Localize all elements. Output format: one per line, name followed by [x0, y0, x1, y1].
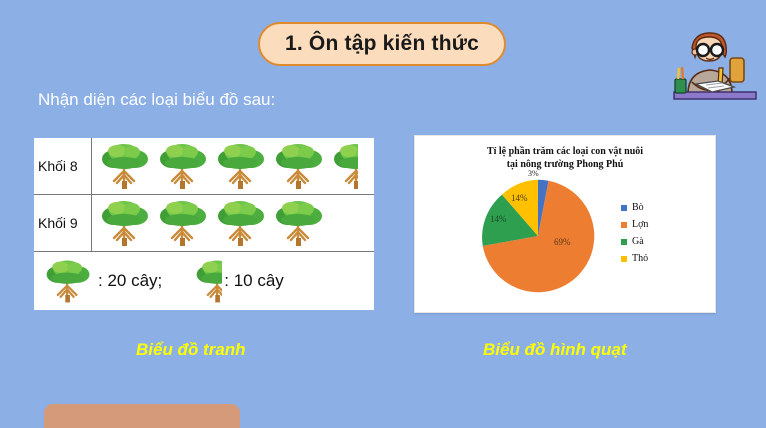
pictogram-chart: Khối 8 — [34, 138, 374, 310]
pie-chart-title-line2: tại nông trường Phong Phú — [415, 158, 715, 171]
pie-slice-label-ga: 14% — [490, 214, 507, 224]
pictogram-row-icons — [92, 138, 374, 194]
pie-chart-title-line1: Tỉ lệ phần trăm các loại con vật nuôi — [415, 145, 715, 158]
tree-icon — [155, 198, 213, 248]
tree-icon — [271, 141, 329, 191]
pie-chart-graphic — [475, 173, 601, 304]
slide-canvas: 1. Ôn tập kiến thức — [0, 0, 766, 428]
legend-swatch-lon — [621, 222, 627, 228]
legend-swatch-tho — [621, 256, 627, 262]
legend-item: Bò — [621, 199, 695, 216]
legend-item: Lợn — [621, 216, 695, 233]
legend-label-ga: Gà — [632, 236, 644, 247]
legend-swatch-ga — [621, 239, 627, 245]
table-row: Khối 8 — [34, 138, 374, 195]
legend-label-bo: Bò — [632, 202, 644, 213]
pie-chart-title: Tỉ lệ phần trăm các loại con vật nuôi tạ… — [415, 145, 715, 171]
slide-title-text: 1. Ôn tập kiến thức — [285, 32, 479, 56]
table-row: Khối 9 — [34, 195, 374, 252]
pictogram-row-label: Khối 8 — [34, 138, 92, 194]
pictogram-key-half: : 10 cây — [192, 257, 284, 305]
tree-icon — [213, 198, 271, 248]
legend-item: Thỏ — [621, 250, 695, 267]
tree-icon — [97, 198, 155, 248]
legend-label-tho: Thỏ — [632, 253, 648, 264]
pie-slice-label-lon: 69% — [554, 237, 571, 247]
pictogram-key-full-label: : 20 cây; — [98, 271, 162, 291]
slide-title-pill: 1. Ôn tập kiến thức — [258, 22, 506, 66]
pictogram-key-half-label: : 10 cây — [224, 271, 284, 291]
legend-swatch-bo — [621, 205, 627, 211]
legend-label-lon: Lợn — [632, 219, 648, 230]
tree-icon — [97, 141, 155, 191]
tree-icon — [271, 198, 329, 248]
tree-icon-half — [192, 257, 222, 305]
pictogram-key-full: : 20 cây; — [42, 257, 162, 305]
prompt-text: Nhận diện các loại biểu đồ sau: — [38, 90, 275, 110]
student-writing-icon — [672, 22, 758, 106]
pictogram-key: : 20 cây; : 10 cây — [34, 252, 374, 309]
pie-caption: Biểu đồ hình quạt — [483, 340, 627, 360]
pie-chart: Tỉ lệ phần trăm các loại con vật nuôi tạ… — [414, 135, 716, 313]
pie-chart-legend: Bò Lợn Gà Thỏ — [621, 199, 695, 267]
tree-icon-half — [329, 141, 358, 191]
legend-item: Gà — [621, 233, 695, 250]
pie-slice-label-tho: 14% — [511, 193, 528, 203]
bottom-rounded-bar[interactable] — [44, 404, 240, 428]
pictogram-caption: Biểu đồ tranh — [136, 340, 246, 360]
tree-icon — [213, 141, 271, 191]
pictogram-row-icons — [92, 195, 374, 251]
pictogram-row-label: Khối 9 — [34, 195, 92, 251]
pie-slice-label-bo: 3% — [528, 169, 539, 178]
tree-icon — [155, 141, 213, 191]
pie-chart-body: 3% 69% 14% 14% Bò Lợn Gà Th — [415, 171, 715, 303]
tree-icon — [42, 257, 96, 305]
